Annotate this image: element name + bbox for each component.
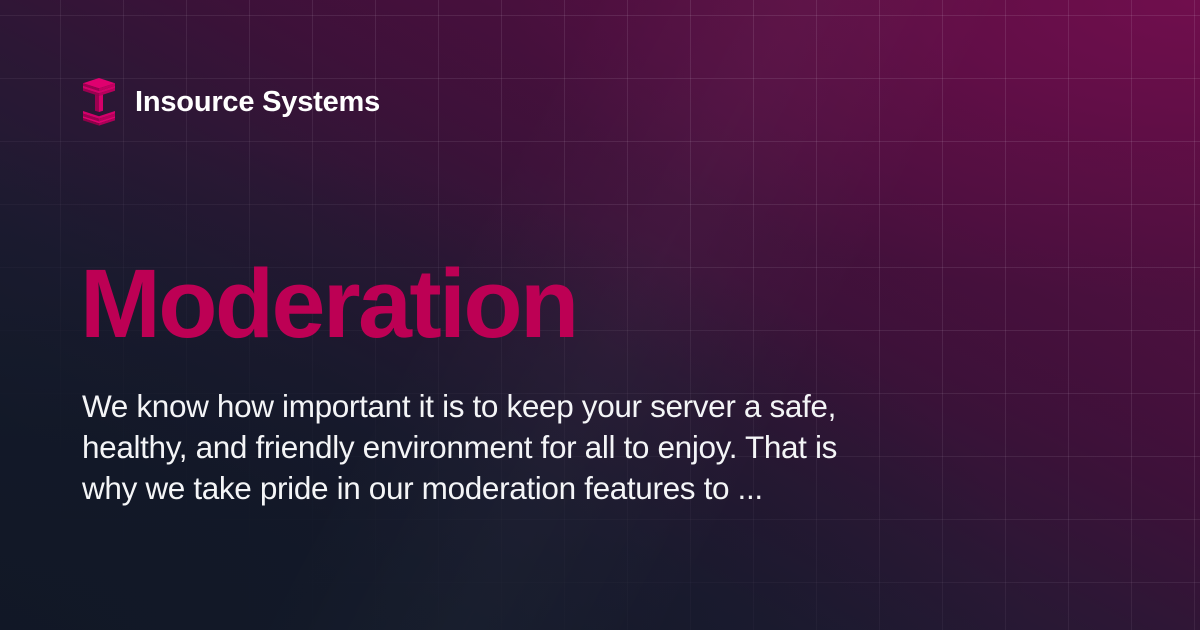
page-description: We know how important it is to keep your… [82, 386, 882, 509]
ibeam-logo-icon [82, 78, 116, 126]
share-card: Insource Systems Moderation We know how … [0, 0, 1200, 630]
brand-lockup[interactable]: Insource Systems [82, 78, 380, 126]
card-content: Insource Systems Moderation We know how … [0, 0, 1200, 630]
brand-name: Insource Systems [135, 88, 380, 117]
page-title: Moderation [80, 255, 577, 352]
